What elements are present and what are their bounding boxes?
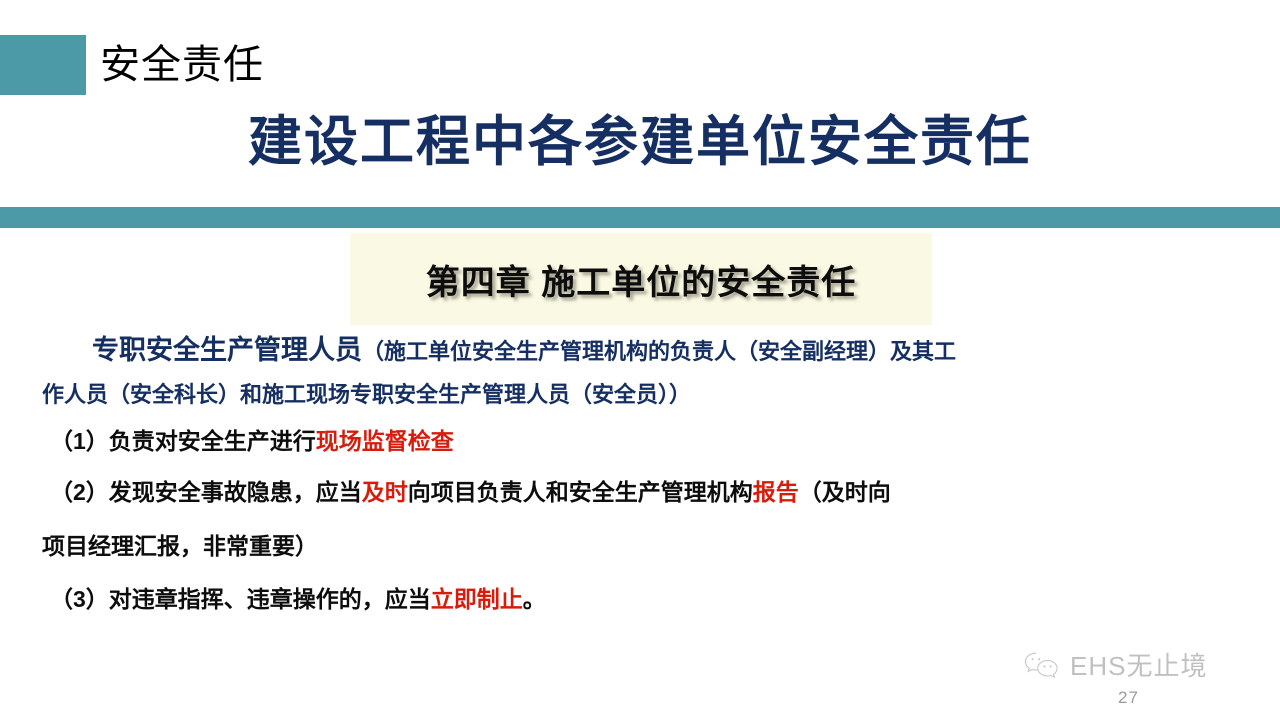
slide: 安全责任 建设工程中各参建单位安全责任 第四章 施工单位的安全责任 专职安全生产… [0, 0, 1280, 720]
list-item-2-highlight-a: 及时 [362, 479, 408, 505]
header-accent-block [0, 35, 86, 95]
list-item-3-marker: （3） [50, 586, 109, 612]
watermark-label: EHS无止境 [1070, 651, 1207, 681]
list-item-2: （2）发现安全事故隐患，应当及时向项目负责人和安全生产管理机构报告（及时向 [42, 464, 1232, 520]
list-item-2-text-c: （及时向 [799, 479, 891, 505]
list-item-3-text-a: 对违章指挥、违章操作的，应当 [109, 586, 431, 612]
header-divider-rule [0, 207, 1280, 228]
list-item-3: （3）对违章指挥、违章操作的，应当立即制止。 [42, 572, 1232, 626]
chapter-banner-label: 第四章 施工单位的安全责任 [426, 255, 856, 304]
intro-line-2: 作人员（安全科长）和施工现场专职安全生产管理人员（安全员）） [42, 372, 1232, 418]
intro-line-1: 专职安全生产管理人员（施工单位安全生产管理机构的负责人（安全副经理）及其工 [42, 330, 1232, 372]
page-number: 27 [1118, 688, 1139, 708]
body-content: 专职安全生产管理人员（施工单位安全生产管理机构的负责人（安全副经理）及其工 作人… [42, 330, 1232, 626]
intro-line-1-rest: （施工单位安全生产管理机构的负责人（安全副经理）及其工 [362, 339, 956, 364]
header-kicker: 安全责任 [100, 37, 264, 93]
list-item-1-marker: （1） [50, 428, 109, 454]
list-item-3-highlight: 立即制止 [431, 586, 523, 612]
list-item-2-marker: （2） [50, 479, 109, 505]
list-item-1-text: 负责对安全生产进行 [109, 428, 316, 454]
list-item-1: （1）负责对安全生产进行现场监督检查 [42, 418, 1232, 464]
list-item-2-text-a: 发现安全事故隐患，应当 [109, 479, 362, 505]
page-title: 建设工程中各参建单位安全责任 [0, 104, 1280, 180]
list-item-1-highlight: 现场监督检查 [316, 428, 454, 454]
wechat-icon [1022, 650, 1062, 682]
list-item-2-continuation: 项目经理汇报，非常重要） [42, 520, 1232, 572]
list-item-2-highlight-b: 报告 [753, 479, 799, 505]
list-item-3-text-b: 。 [523, 586, 546, 612]
intro-emphasis: 专职安全生产管理人员 [92, 335, 362, 365]
list-item-2-text-b: 向项目负责人和安全生产管理机构 [408, 479, 753, 505]
watermark: EHS无止境 [1022, 650, 1207, 682]
chapter-banner: 第四章 施工单位的安全责任 [350, 233, 932, 325]
